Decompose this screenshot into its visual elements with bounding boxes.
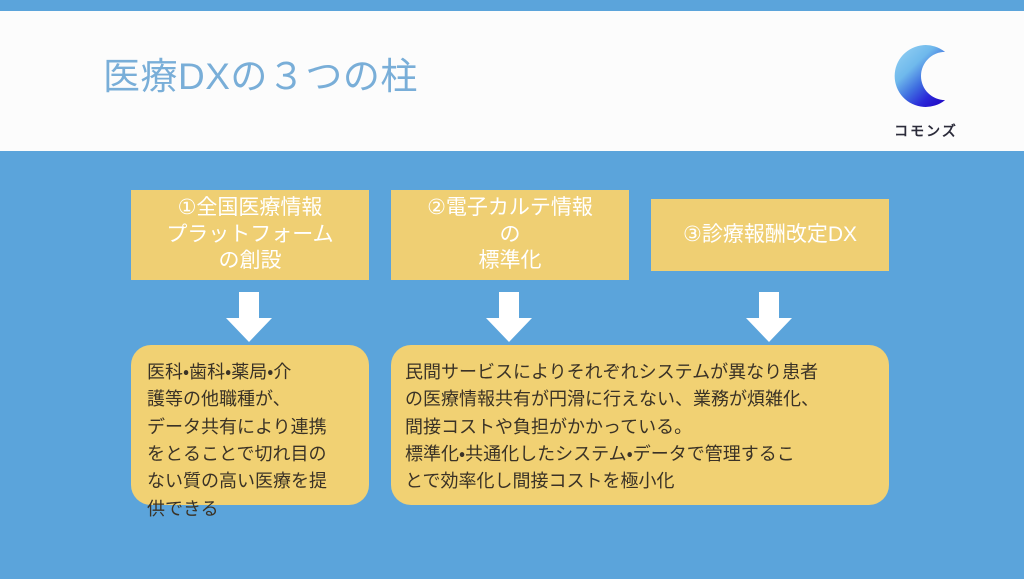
pillar-head-box-2: ②電子カルテ情報 の 標準化: [391, 190, 629, 280]
down-arrow-icon-1: [226, 292, 272, 342]
pillar-detail-box-2: 民間サービスによりそれぞれシステムが異なり患者 の医療情報共有が円滑に行えない、…: [391, 345, 889, 505]
pillar-head-box-3: ③診療報酬改定DX: [651, 199, 889, 271]
page-title: 医療DXの３つの柱: [103, 56, 418, 99]
pillar-head-box-1: ①全国医療情報 プラットフォーム の創設: [131, 190, 369, 280]
slide-canvas: 医療DXの３つの柱 コモンズ ①全国医療情報 プラットフォーム の創設 ②電子カ…: [0, 0, 1024, 579]
down-arrow-icon-2: [486, 292, 532, 342]
pillar-detail-box-1: 医科・歯科・薬局・介 護等の他職種が、 データ共有により連携 をとることで切れ目…: [131, 345, 369, 505]
brand-logo: コモンズ: [866, 33, 986, 145]
down-arrow-icon-3: [746, 292, 792, 342]
logo-caption: コモンズ: [866, 121, 986, 141]
commons-c-logo-icon: [878, 33, 964, 119]
